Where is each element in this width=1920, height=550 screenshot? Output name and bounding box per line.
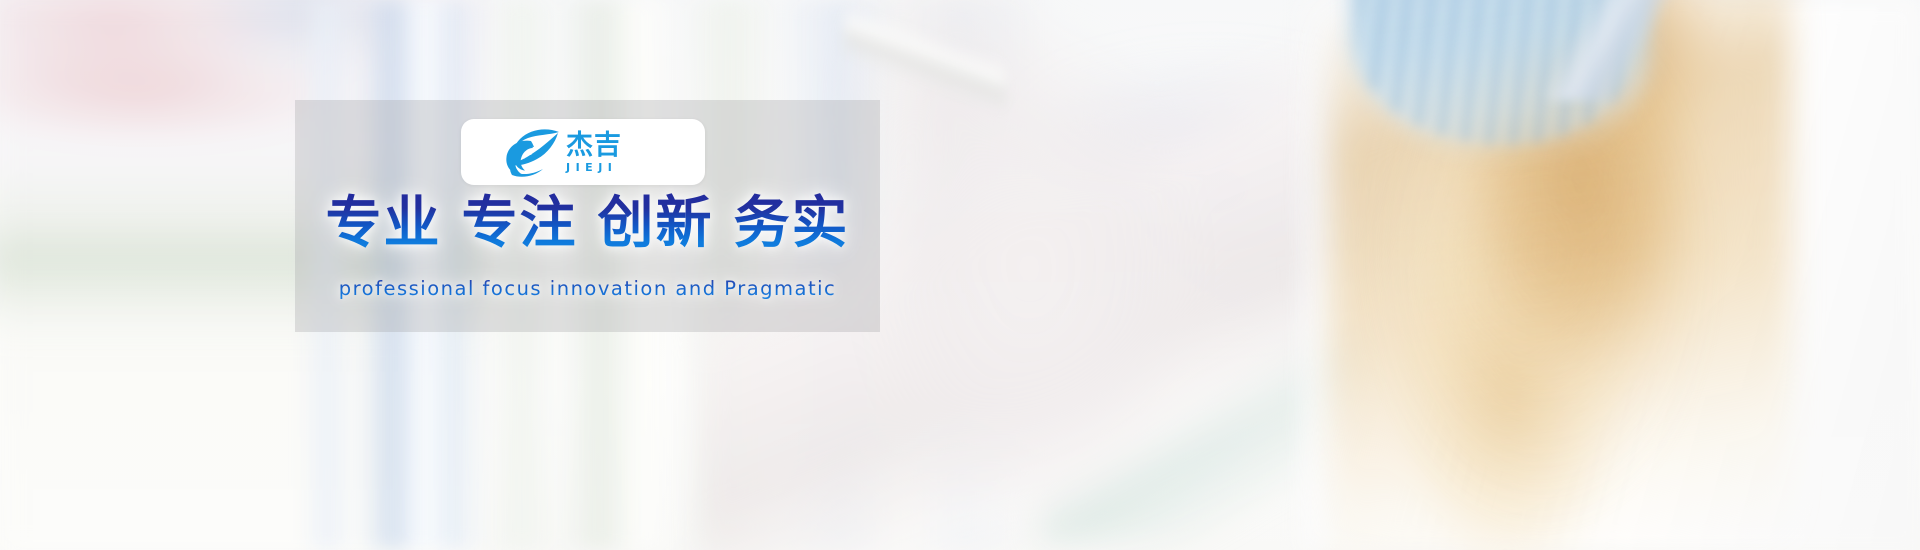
headline-word-4: 务实 (734, 191, 850, 256)
logo-wordmark: 杰吉 JIEJI (566, 132, 622, 173)
logo-chinese-name: 杰吉 (566, 132, 622, 159)
swirl-wave-icon (500, 124, 560, 180)
headline-word-3: 创新 (598, 191, 714, 256)
headline-word-1: 专业 (326, 191, 442, 256)
logo-latin-name: JIEJI (566, 162, 622, 173)
headline-word-2: 专注 (462, 191, 578, 256)
company-logo[interactable]: 杰吉 JIEJI (461, 119, 705, 185)
headline-slogan: 专业专注创新务实 (295, 196, 880, 252)
background-soft-veil (0, 0, 1920, 550)
hero-banner: 杰吉 JIEJI 专业专注创新务实 professional focus inn… (0, 0, 1920, 550)
subtitle-slogan: professional focus innovation and Pragma… (295, 277, 880, 300)
